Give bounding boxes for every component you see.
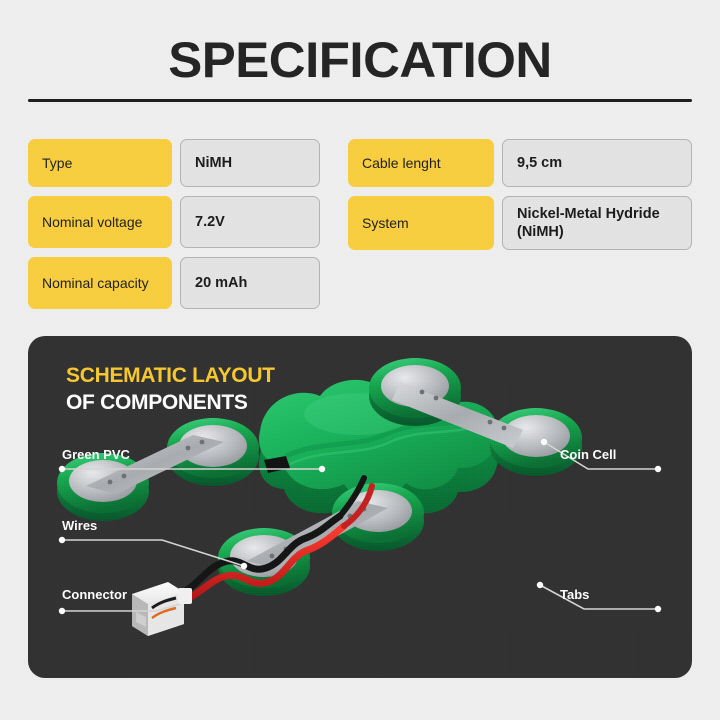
spec-table-left: Type NiMH Nominal voltage 7.2V Nominal c… [28, 139, 320, 318]
spec-label-type: Type [28, 139, 172, 187]
spec-value-system: Nickel-Metal Hydride (NiMH) [502, 196, 692, 250]
callout-label-connector: Connector [62, 587, 127, 603]
schematic-panel: SCHEMATIC LAYOUT OF COMPONENTS Green PVC… [28, 336, 692, 678]
spec-row: Cable lenght 9,5 cm [348, 139, 692, 187]
title-divider [28, 99, 692, 102]
spec-value-cable-lenght: 9,5 cm [502, 139, 692, 187]
callout-label-wires: Wires [62, 518, 97, 534]
page-title: SPECIFICATION [0, 32, 720, 88]
schematic-heading: SCHEMATIC LAYOUT OF COMPONENTS [66, 363, 275, 415]
spec-value-nominal-voltage: 7.2V [180, 196, 320, 248]
spec-label-nominal-capacity: Nominal capacity [28, 257, 172, 309]
spec-row: Nominal capacity 20 mAh [28, 257, 320, 309]
connector [132, 582, 192, 636]
schematic-heading-line1: SCHEMATIC LAYOUT [66, 363, 275, 388]
spec-value-type: NiMH [180, 139, 320, 187]
schematic-heading-line2: OF COMPONENTS [66, 390, 275, 415]
spec-row: System Nickel-Metal Hydride (NiMH) [348, 196, 692, 250]
spec-label-system: System [348, 196, 494, 250]
spec-row: Type NiMH [28, 139, 320, 187]
spec-table-right: Cable lenght 9,5 cm System Nickel-Metal … [348, 139, 692, 259]
callout-label-tabs: Tabs [560, 587, 589, 603]
spec-label-nominal-voltage: Nominal voltage [28, 196, 172, 248]
callout-label-green-pvc: Green PVC [62, 447, 130, 463]
spec-value-nominal-capacity: 20 mAh [180, 257, 320, 309]
callout-label-coin-cell: Coin Cell [560, 447, 616, 463]
spec-row: Nominal voltage 7.2V [28, 196, 320, 248]
spec-label-cable-lenght: Cable lenght [348, 139, 494, 187]
coin-cell-pair [57, 418, 259, 521]
